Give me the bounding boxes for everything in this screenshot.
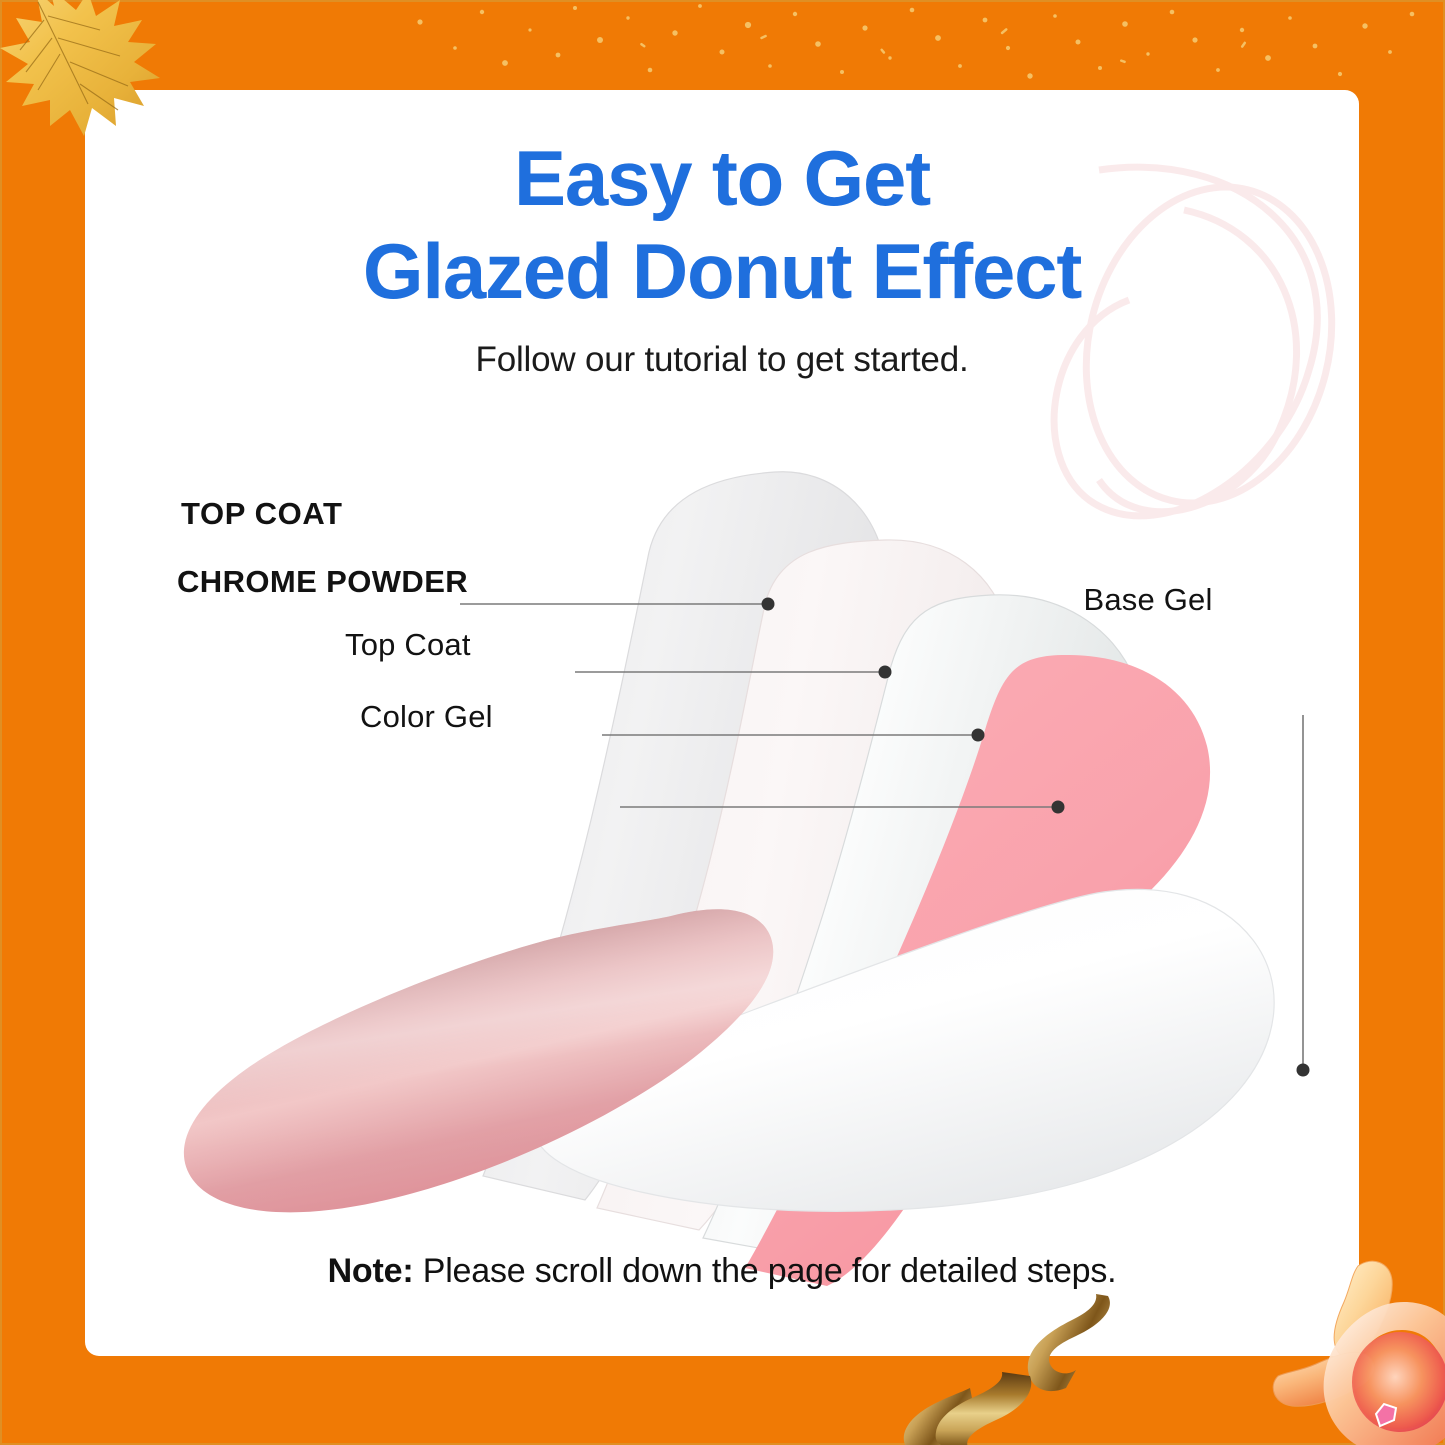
footer-note-label: Note:	[328, 1252, 414, 1290]
glossy-flower-icon	[1272, 1258, 1445, 1445]
leader-dot-top-coat	[972, 729, 985, 742]
footer-note: Note: Please scroll down the page for de…	[85, 1252, 1359, 1291]
content-card: Easy to Get Glazed Donut Effect Follow o…	[85, 90, 1359, 1356]
callout-label-chrome-powder: CHROME POWDER	[177, 564, 468, 600]
gold-sparkles-icon	[0, 0, 1445, 95]
leader-dot-chrome-powder	[879, 666, 892, 679]
poster-canvas: Easy to Get Glazed Donut Effect Follow o…	[0, 0, 1445, 1445]
callout-label-base-gel: Base Gel	[1083, 582, 1212, 618]
leader-dot-color-gel	[1052, 801, 1065, 814]
gold-ribbon-icon	[880, 1292, 1240, 1445]
callout-label-color-gel: Color Gel	[360, 699, 493, 735]
nail-layer-diagram: TOP COAT CHROME POWDER Top Coat Color Ge…	[85, 90, 1359, 1356]
callout-label-top-coat: Top Coat	[345, 627, 471, 663]
maple-leaf-icon	[0, 0, 202, 166]
leader-dot-top-coat-caps	[762, 598, 775, 611]
leader-dot-base-gel	[1297, 1064, 1310, 1077]
callout-label-top-coat-caps: TOP COAT	[181, 496, 343, 532]
footer-note-text: Please scroll down the page for detailed…	[413, 1252, 1116, 1290]
